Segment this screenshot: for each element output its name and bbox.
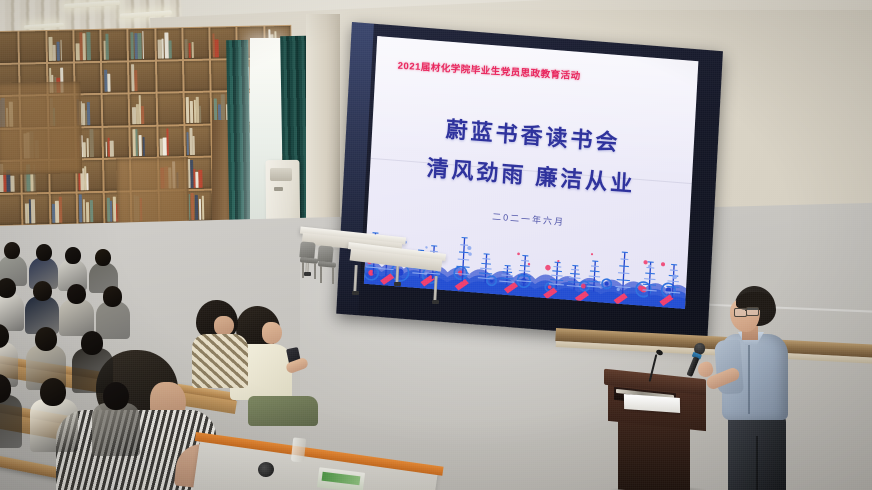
deco-sprig-leaf — [553, 266, 561, 267]
bookshelf-cell — [102, 62, 128, 93]
book — [89, 129, 94, 157]
deco-sprig-leaf — [460, 245, 468, 246]
book — [86, 32, 90, 60]
deco-blossom — [545, 265, 551, 271]
book — [59, 197, 62, 223]
deco-blossom — [643, 260, 647, 264]
book — [166, 128, 169, 155]
deco-sprig-leaf — [619, 266, 629, 267]
book — [142, 137, 145, 156]
bookshelf-cell — [158, 126, 184, 157]
bookshelf-cell — [20, 31, 46, 62]
audience-member-head — [81, 331, 103, 355]
book — [31, 199, 35, 223]
deco-sprig-leaf — [519, 271, 530, 272]
eyeglasses-right-lens — [746, 307, 759, 316]
bookshelf-cell — [47, 30, 73, 61]
bookshelf-cell — [156, 28, 182, 59]
deco-sprig-leaf — [590, 271, 600, 272]
deco-blossom — [517, 252, 520, 255]
deco-blossom — [468, 252, 472, 256]
audience-member-head — [35, 327, 57, 351]
audience-member-head — [4, 242, 20, 259]
bookshelf-cell — [157, 61, 183, 92]
deco-sprig-leaf — [503, 272, 513, 273]
audience-member-torso — [30, 399, 78, 452]
audience-member-head — [95, 249, 111, 266]
audience-member-head — [65, 247, 81, 264]
deco-sprig-leaf — [644, 279, 655, 280]
wooden-lectern[interactable] — [602, 368, 708, 490]
deco-blossom — [661, 262, 665, 266]
bookshelf-cell — [101, 29, 127, 60]
bookshelf-cell — [23, 194, 49, 225]
deco-sprig-leaf — [481, 263, 491, 264]
bookshelf-cell — [74, 30, 100, 61]
deco-sprig-leaf — [480, 268, 491, 269]
audience-member-head — [40, 378, 66, 407]
audience-member-head — [67, 284, 86, 304]
presenter-shirt-placket — [748, 342, 750, 414]
bookshelf-cell — [184, 60, 210, 91]
book — [199, 106, 201, 123]
bookshelf-cell — [130, 94, 156, 125]
bookshelf-cell — [0, 194, 22, 225]
deco-sprig-leaf — [482, 259, 490, 260]
book — [190, 101, 194, 122]
bookshelf-cell — [103, 94, 129, 125]
book — [168, 40, 171, 58]
deco-sprig-leaf — [617, 280, 630, 281]
bookshelf-cell — [131, 126, 157, 157]
bookshelf-cell — [129, 61, 155, 92]
book — [107, 74, 110, 92]
photo-scene: 2021届材化学院毕业生党员思政教育活动 蔚蓝书香读书会 清风劲雨 廉洁从业 二… — [0, 0, 872, 490]
audience-member-head — [36, 244, 52, 261]
book — [191, 42, 194, 58]
deco-sprig-leaf — [670, 270, 678, 271]
book — [110, 141, 114, 157]
bookshelf-cell — [183, 28, 209, 59]
book — [142, 31, 144, 58]
deco-sprig-leaf — [504, 269, 512, 270]
deco-sprig-leaf — [459, 252, 469, 253]
air-conditioner-vent — [270, 168, 292, 181]
audience-member-head — [33, 281, 52, 301]
bookshelf-cell — [103, 127, 129, 158]
book — [193, 136, 195, 155]
audience-member — [92, 382, 140, 461]
book — [199, 170, 203, 188]
deco-sprig-leaf — [552, 271, 562, 272]
book — [202, 195, 205, 219]
lectern-base — [618, 421, 690, 490]
deco-sprig-leaf — [571, 269, 579, 270]
book — [87, 102, 90, 124]
book — [106, 34, 109, 59]
air-conditioner-panel — [274, 187, 283, 191]
bookshelf-cell — [185, 125, 211, 156]
deco-blossom — [425, 246, 428, 249]
audience-member — [30, 378, 78, 457]
deco-sprig-leaf — [618, 273, 629, 274]
eyeglasses-bridge — [745, 310, 747, 311]
audience-member-torso — [0, 395, 22, 448]
audience-member-head — [103, 286, 122, 306]
water-bottle[interactable] — [291, 437, 306, 462]
presenter-at-podium — [712, 286, 808, 490]
bookshelf-cell — [78, 192, 104, 223]
bookshelf-wood-panel-left — [0, 81, 82, 175]
book — [215, 39, 219, 57]
book — [90, 200, 93, 222]
deco-sprig-leaf — [520, 265, 530, 266]
bookshelf-cell — [186, 158, 212, 189]
bookshelf-cell — [0, 32, 18, 63]
slide-banner-text: 2021届材化学院毕业生党员思政教育活动 — [398, 58, 581, 83]
book — [60, 40, 62, 60]
led-wall-display[interactable]: 2021届材化学院毕业生党员思政教育活动 蔚蓝书香读书会 清风劲雨 廉洁从业 二… — [336, 22, 723, 343]
deco-sprig-leaf — [521, 260, 529, 261]
book — [138, 135, 142, 156]
audience-member-torso — [92, 403, 140, 456]
book — [213, 98, 217, 122]
deco-sprig-leaf — [551, 275, 562, 276]
book — [141, 106, 145, 123]
deco-sprig-leaf — [589, 276, 600, 277]
bookshelf-cell — [50, 193, 76, 224]
deco-sprig-leaf — [591, 266, 599, 267]
table-left-foot-2 — [394, 282, 401, 286]
presenter-leg-split — [756, 436, 758, 490]
deco-sprig-leaf — [570, 273, 580, 274]
deco-sprig-leaf — [621, 259, 629, 260]
audience-member-head — [103, 382, 129, 411]
deco-sprig-leaf — [645, 273, 655, 274]
deco-blossom — [528, 263, 531, 266]
book — [11, 176, 14, 192]
table-right-foot-2 — [432, 300, 439, 304]
audience-member — [0, 374, 22, 453]
bookshelf-cell — [187, 190, 213, 221]
deco-blossom — [591, 253, 593, 255]
bookshelf-cell — [129, 29, 155, 60]
bookshelf-cell — [185, 93, 211, 124]
deco-sprig-leaf — [668, 281, 679, 282]
deco-blossom — [467, 246, 471, 250]
bookshelf-cell — [157, 93, 183, 124]
deco-sprig-leaf — [458, 259, 469, 260]
book — [87, 173, 89, 190]
book — [135, 70, 138, 92]
